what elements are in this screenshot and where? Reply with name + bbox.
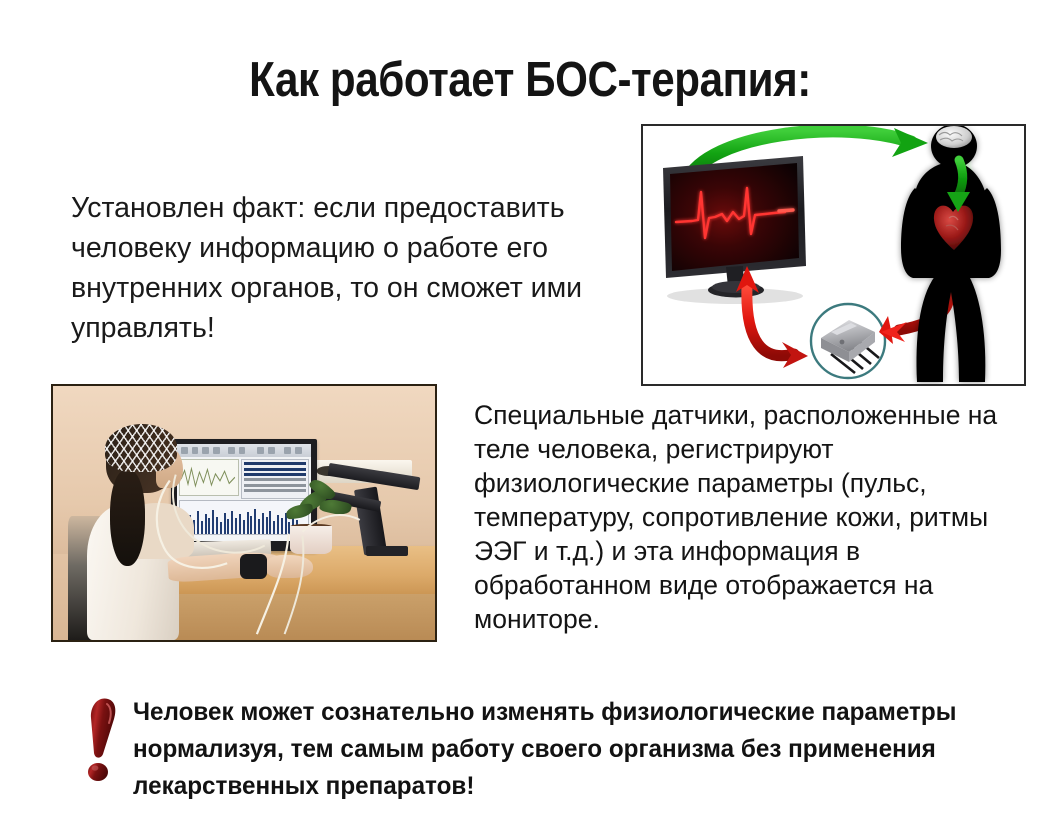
eeg-biofeedback-session-photo (51, 384, 437, 642)
biofeedback-loop-diagram (641, 124, 1026, 386)
electrode-wires (53, 386, 435, 640)
diagram-canvas (643, 126, 1024, 384)
computer-monitor (663, 156, 806, 298)
intro-paragraph: Установлен факт: если предоставить челов… (71, 188, 651, 348)
sensors-paragraph: Специальные датчики, расположенные на те… (474, 398, 1034, 636)
brain-icon (936, 126, 972, 148)
conclusion-paragraph: Человек может сознательно изменять физио… (133, 694, 1006, 805)
monitor-screen (670, 163, 799, 271)
page-title: Как работает БОС-терапия: (74, 52, 986, 108)
red-arrow-sensor-to-monitor (736, 266, 808, 368)
sensor-chip-in-circle (811, 304, 885, 378)
exclamation-mark-icon (86, 696, 124, 782)
human-silhouette (901, 126, 1001, 382)
conclusion-block: Человек может сознательно изменять физио… (86, 694, 1036, 794)
